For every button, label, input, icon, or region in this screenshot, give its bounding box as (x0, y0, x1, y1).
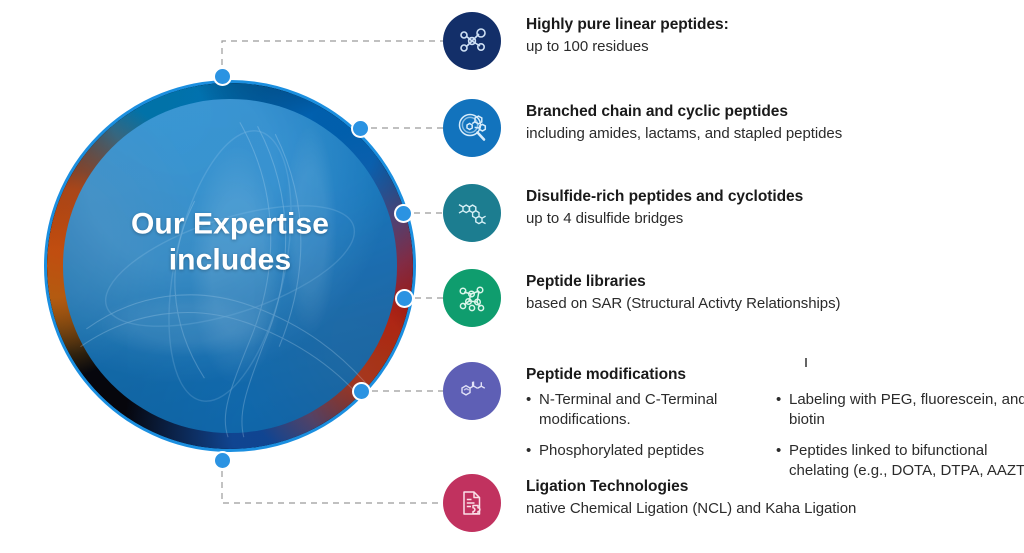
item-text: Branched chain and cyclic peptides inclu… (526, 99, 842, 145)
list-item: • N-Terminal and C-Terminal modification… (526, 390, 752, 430)
document-puzzle-icon (443, 474, 501, 532)
list-item: • Labeling with PEG, fluorescein, and bi… (776, 390, 1024, 430)
list-item-disulfide-peptides[interactable]: Disulfide-rich peptides and cyclotides u… (443, 184, 803, 242)
hero-title-line1: Our Expertise (81, 206, 379, 243)
item-text: Disulfide-rich peptides and cyclotides u… (526, 184, 803, 230)
hero-title-line2: includes (81, 243, 379, 280)
item-title: Disulfide-rich peptides and cyclotides (526, 187, 803, 207)
bullet-glyph: • (526, 390, 539, 430)
benzene-ester-icon (443, 362, 501, 420)
bullet-glyph: • (526, 441, 539, 461)
fused-ring-chain-icon (443, 184, 501, 242)
item-text: Peptide modifications • N-Terminal and C… (526, 362, 1024, 492)
item-subtitle: native Chemical Ligation (NCL) and Kaha … (526, 499, 856, 519)
bullet-text: N-Terminal and C-Terminal modifications. (539, 390, 752, 430)
item-title: Ligation Technologies (526, 477, 856, 497)
node-dot-3 (396, 206, 411, 221)
node-dot-2 (353, 121, 368, 136)
item-subtitle: up to 100 residues (526, 37, 729, 57)
node-dot-6 (215, 453, 230, 468)
item-title: Highly pure linear peptides: (526, 15, 729, 35)
list-item-peptide-modifications[interactable]: Peptide modifications • N-Terminal and C… (443, 362, 1024, 492)
item-subtitle: including amides, lactams, and stapled p… (526, 124, 842, 144)
list-item: • Phosphorylated peptides (526, 441, 752, 461)
item-text: Peptide libraries based on SAR (Structur… (526, 269, 840, 315)
molecule-node-icon (443, 12, 501, 70)
bullet-text: Phosphorylated peptides (539, 441, 704, 461)
list-item-linear-peptides[interactable]: Highly pure linear peptides: up to 100 r… (443, 12, 729, 70)
connector-1 (222, 41, 443, 76)
stray-apostrophe-mark (805, 358, 807, 367)
bullet-glyph: • (776, 390, 789, 430)
connector-6 (222, 460, 443, 503)
bullet-text: Labeling with PEG, fluorescein, and biot… (789, 390, 1024, 430)
magnifier-molecule-icon (443, 99, 501, 157)
expertise-list: Highly pure linear peptides: up to 100 r… (443, 0, 1024, 553)
list-item-branched-cyclic-peptides[interactable]: Branched chain and cyclic peptides inclu… (443, 99, 842, 157)
item-text: Highly pure linear peptides: up to 100 r… (526, 12, 729, 58)
node-dot-5 (354, 384, 369, 399)
item-subtitle: based on SAR (Structural Activty Relatio… (526, 294, 840, 314)
item-title: Branched chain and cyclic peptides (526, 102, 842, 122)
item-title: Peptide modifications (526, 365, 1024, 385)
list-item-peptide-libraries[interactable]: Peptide libraries based on SAR (Structur… (443, 269, 840, 327)
item-subtitle: up to 4 disulfide bridges (526, 209, 803, 229)
list-item-ligation-technologies[interactable]: Ligation Technologies native Chemical Li… (443, 474, 856, 532)
item-text: Ligation Technologies native Chemical Li… (526, 474, 856, 520)
hero-title: Our Expertise includes (47, 206, 413, 279)
node-dot-4 (397, 291, 412, 306)
node-dot-1 (215, 69, 230, 84)
molecule-cluster-icon (443, 269, 501, 327)
item-title: Peptide libraries (526, 272, 840, 292)
